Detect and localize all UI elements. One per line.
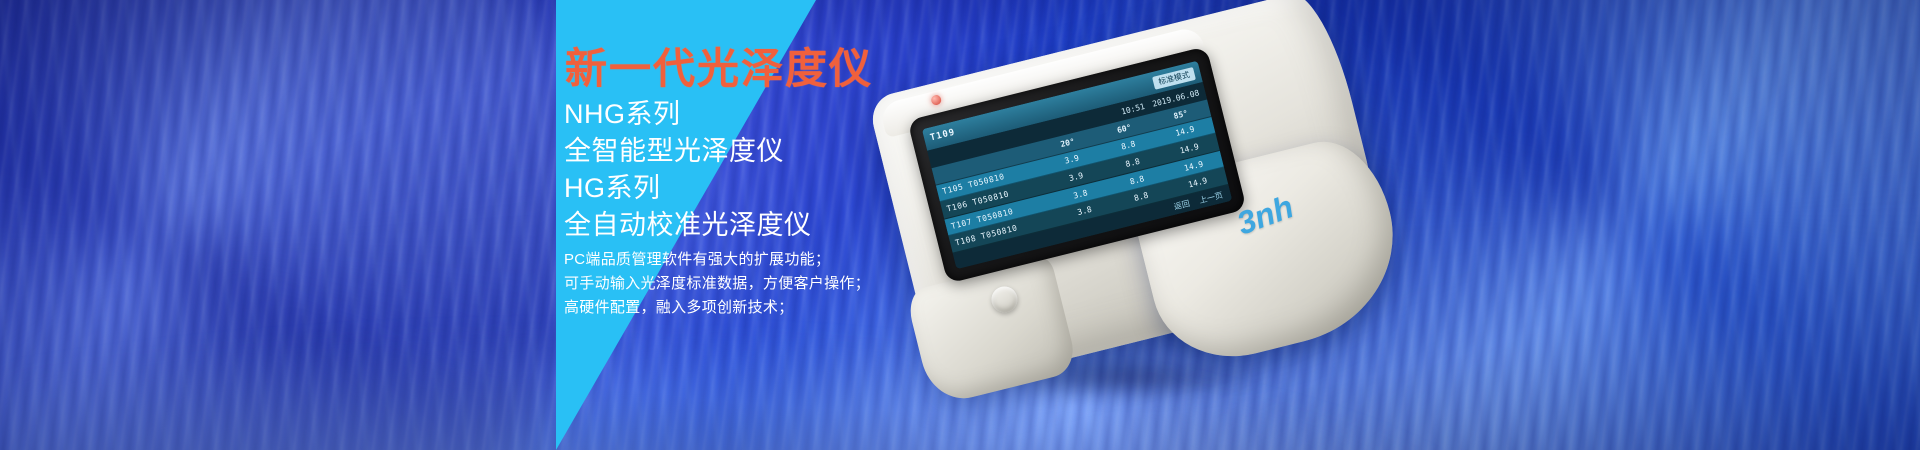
banner-subtitle-4: 全自动校准光泽度仪 [564,207,812,244]
banner-feature-3: 高硬件配置，融入多项创新技术； [564,296,870,320]
banner-subtitle-3: HG系列 [564,170,812,207]
banner-subtitle-2: 全智能型光泽度仪 [564,133,812,170]
banner-headline: 新一代光泽度仪 [565,48,873,90]
banner-subtitle-list: NHG系列 全智能型光泽度仪 HG系列 全自动校准光泽度仪 [564,96,812,244]
banner-feature-2: 可手动输入光泽度标准数据，方便客户操作； [564,272,870,296]
promo-banner: 新一代光泽度仪 NHG系列 全智能型光泽度仪 HG系列 全自动校准光泽度仪 PC… [0,0,1920,450]
lcd-back-button[interactable]: 返回 [1173,197,1191,212]
banner-feature-list: PC端品质管理软件有强大的扩展功能； 可手动输入光泽度标准数据，方便客户操作； … [564,248,870,320]
banner-subtitle-1: NHG系列 [564,96,812,133]
banner-feature-1: PC端品质管理软件有强大的扩展功能； [564,248,870,272]
lcd-prev-page-button[interactable]: 上一页 [1198,189,1224,205]
gloss-meter-device: T109 标准模式 10:51 2019.06.08 20° 60° 85° [860,18,1420,418]
lcd-sample-tag: T109 [929,128,956,144]
lcd-time: 10:51 [1120,101,1146,116]
